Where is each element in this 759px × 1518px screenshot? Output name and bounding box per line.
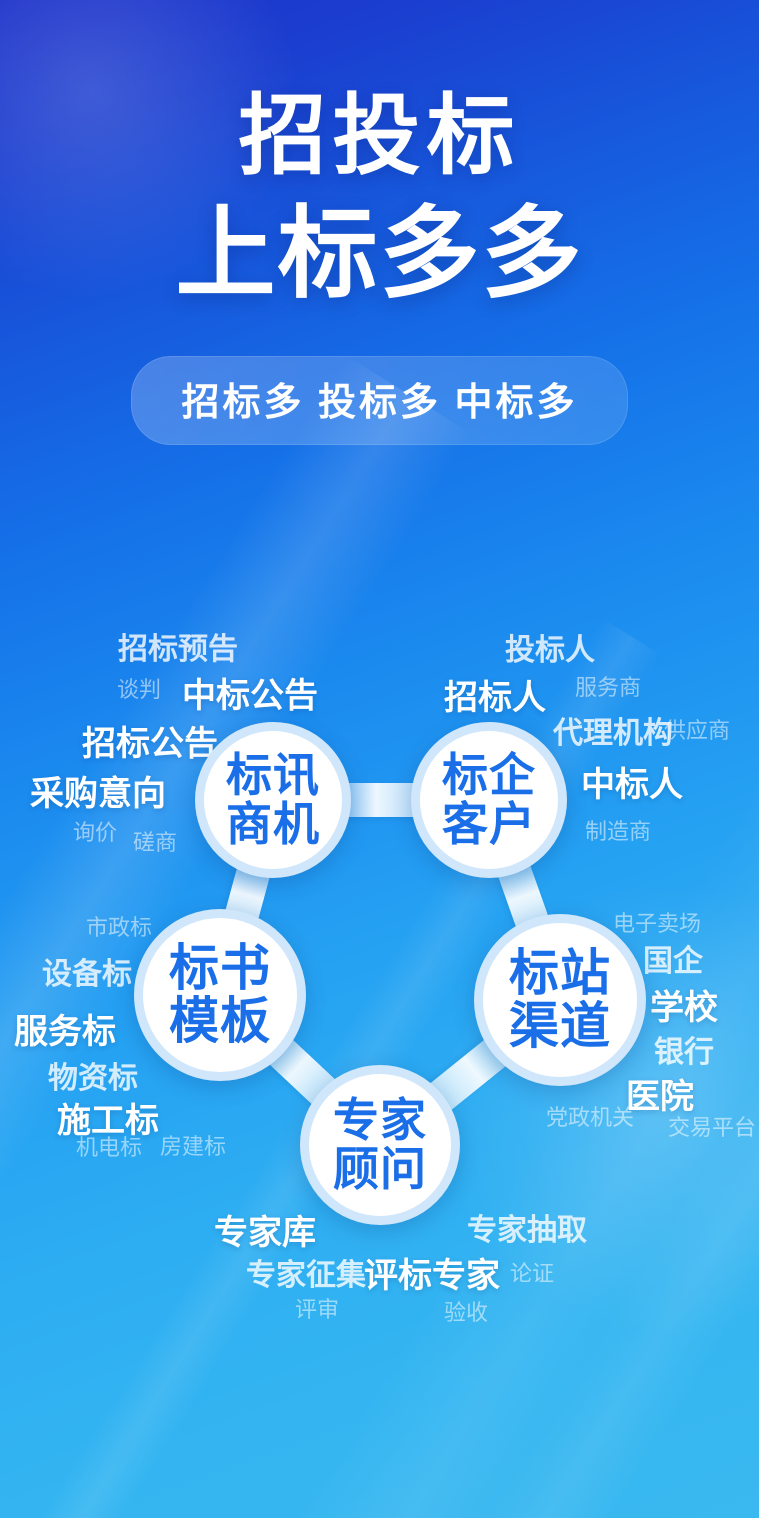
keyword-tag: 银行 — [654, 1027, 714, 1071]
keyword-tag: 评审 — [295, 1292, 339, 1324]
keyword-tag: 服务标 — [14, 1004, 116, 1053]
poster-root: 招投标 上标多多 招标多 投标多 中标多 招标预告谈判中标公告招标公告采购意向询… — [0, 0, 759, 1518]
diagram-node-biaozhan[interactable]: 标站渠道 — [474, 914, 646, 1086]
keyword-tag: 国企 — [643, 936, 703, 980]
keyword-tag: 专家库 — [214, 1205, 316, 1254]
diagram-node-label: 专家顾问 — [333, 1096, 427, 1194]
keyword-tag: 磋商 — [133, 825, 177, 857]
keyword-tag: 学校 — [650, 980, 718, 1029]
keyword-tag: 中标人 — [581, 757, 683, 806]
keyword-tag: 投标人 — [505, 625, 595, 669]
keyword-tag: 采购意向 — [30, 766, 166, 815]
diagram-node-label: 标站渠道 — [509, 947, 611, 1053]
keyword-tag: 验收 — [444, 1295, 488, 1327]
keyword-tag: 市政标 — [86, 910, 152, 942]
keyword-tag: 谈判 — [117, 672, 161, 704]
keyword-tag: 交易平台 — [668, 1110, 756, 1142]
diagram-node-label: 标企客户 — [442, 751, 536, 849]
diagram-node-biaoqi[interactable]: 标企客户 — [411, 722, 567, 878]
keyword-tag: 专家征集 — [246, 1250, 366, 1294]
keyword-tag: 设备标 — [42, 949, 132, 993]
diagram-node-biaoshu[interactable]: 标书模板 — [134, 909, 306, 1081]
keyword-tag: 供应商 — [664, 713, 730, 745]
diagram-node-biaoxun[interactable]: 标讯商机 — [195, 722, 351, 878]
diagram-node-label: 标书模板 — [169, 942, 271, 1048]
keyword-tag: 电子卖场 — [613, 906, 701, 938]
keyword-tag: 物资标 — [48, 1053, 138, 1097]
keyword-tag: 专家抽取 — [467, 1205, 587, 1249]
keyword-tag: 招标公告 — [82, 716, 218, 765]
keyword-tag: 询价 — [73, 815, 117, 847]
keyword-tag: 机电标 — [76, 1130, 142, 1162]
keyword-tag: 招标人 — [444, 670, 546, 719]
keyword-tag: 招标预告 — [118, 624, 238, 668]
diagram-node-label: 标讯商机 — [226, 751, 320, 849]
keyword-tag: 制造商 — [585, 814, 651, 846]
keyword-tag: 服务商 — [575, 670, 641, 702]
keyword-tag: 中标公告 — [182, 668, 318, 717]
keyword-tag: 党政机关 — [546, 1100, 634, 1132]
keyword-tag: 论证 — [510, 1256, 554, 1288]
keyword-tag: 评标专家 — [364, 1248, 500, 1297]
diagram-node-zhuanjia[interactable]: 专家顾问 — [300, 1065, 460, 1225]
capability-diagram: 招标预告谈判中标公告招标公告采购意向询价磋商投标人招标人服务商代理机构供应商中标… — [0, 0, 759, 1518]
keyword-tag: 代理机构 — [553, 708, 673, 752]
keyword-tag: 房建标 — [160, 1129, 226, 1161]
